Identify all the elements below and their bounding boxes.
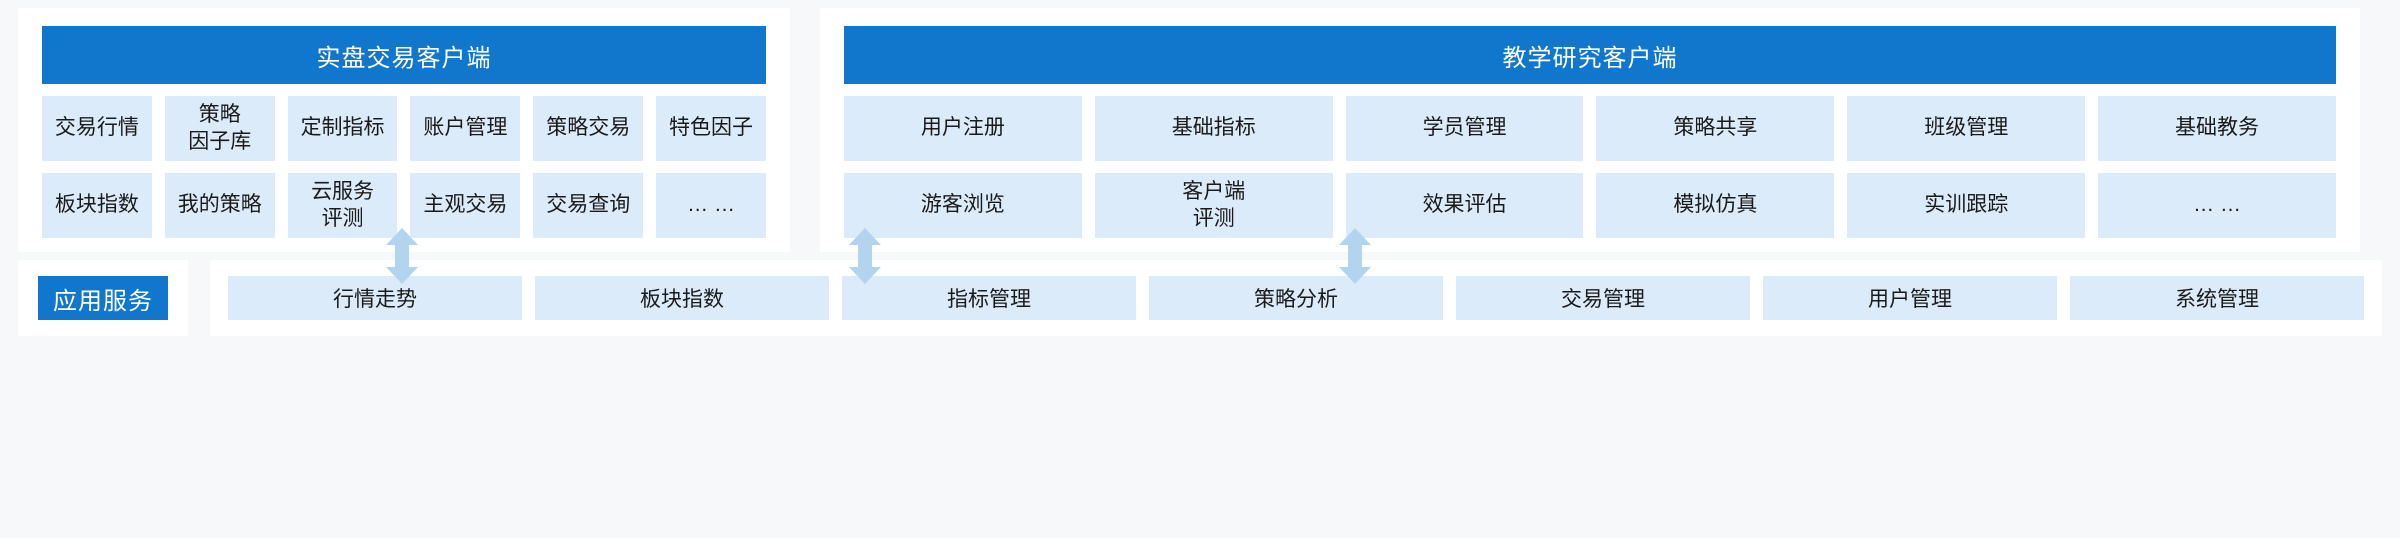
service-tile-hangqingzoushi[interactable]: 行情走势 xyxy=(228,276,522,320)
tile-row: 用户注册 基础指标 学员管理 策略共享 班级管理 基础教务 xyxy=(844,96,2336,161)
tile-row: 交易行情 策略 因子库 定制指标 账户管理 策略交易 特色因子 xyxy=(42,96,766,161)
tile-teaching-jichuzhibiao[interactable]: 基础指标 xyxy=(1095,96,1333,161)
tile-trading-celuejiaoyi[interactable]: 策略交易 xyxy=(533,96,643,161)
application-service-band: 应用服务 行情走势 板块指数 指标管理 策略分析 交易管理 用户管理 系统管理 xyxy=(0,260,2400,530)
panel-trading-client: 实盘交易客户端 交易行情 策略 因子库 定制指标 账户管理 策略交易 特色因子 … xyxy=(18,8,790,252)
client-panels: 实盘交易客户端 交易行情 策略 因子库 定制指标 账户管理 策略交易 特色因子 … xyxy=(0,0,2400,252)
service-band-label: 应用服务 xyxy=(38,276,168,320)
tile-teaching-jichujiaowu[interactable]: 基础教务 xyxy=(2098,96,2336,161)
tile-teaching-kehuduanpingce[interactable]: 客户端 评测 xyxy=(1095,173,1333,238)
tile-trading-yunfuwupingce[interactable]: 云服务 评测 xyxy=(288,173,398,238)
service-tile-celuefenxi[interactable]: 策略分析 xyxy=(1149,276,1443,320)
tile-row: 游客浏览 客户端 评测 效果评估 模拟仿真 实训跟踪 … … xyxy=(844,173,2336,238)
tile-trading-wodecelue[interactable]: 我的策略 xyxy=(165,173,275,238)
tile-trading-zhuguanjiaoyi[interactable]: 主观交易 xyxy=(410,173,520,238)
tile-teaching-banjiguanli[interactable]: 班级管理 xyxy=(1847,96,2085,161)
panel-title-trading-client: 实盘交易客户端 xyxy=(42,26,766,84)
panel-teaching-research-client: 教学研究客户端 用户注册 基础指标 学员管理 策略共享 班级管理 基础教务 游客… xyxy=(820,8,2360,252)
tile-teaching-yonghuzhuce[interactable]: 用户注册 xyxy=(844,96,1082,161)
tile-trading-more[interactable]: … … xyxy=(656,173,766,238)
tile-trading-bankuaizhishu[interactable]: 板块指数 xyxy=(42,173,152,238)
service-tile-xitongguanli[interactable]: 系统管理 xyxy=(2070,276,2364,320)
service-label-card: 应用服务 xyxy=(18,260,188,336)
tile-trading-jiaoyichaxun[interactable]: 交易查询 xyxy=(533,173,643,238)
tile-trading-zhanghuguanli[interactable]: 账户管理 xyxy=(410,96,520,161)
tile-trading-tesiyinzi[interactable]: 特色因子 xyxy=(656,96,766,161)
tile-trading-dingzhizhibiao[interactable]: 定制指标 xyxy=(288,96,398,161)
service-tile-bankuaizhishu[interactable]: 板块指数 xyxy=(535,276,829,320)
tile-teaching-monifangzhen[interactable]: 模拟仿真 xyxy=(1596,173,1834,238)
service-tiles-card: 行情走势 板块指数 指标管理 策略分析 交易管理 用户管理 系统管理 xyxy=(210,260,2382,336)
service-tile-jiaoyiguanli[interactable]: 交易管理 xyxy=(1456,276,1750,320)
tile-teaching-xueyuanguanli[interactable]: 学员管理 xyxy=(1346,96,1584,161)
tile-teaching-youkeliulan[interactable]: 游客浏览 xyxy=(844,173,1082,238)
tile-teaching-more[interactable]: … … xyxy=(2098,173,2336,238)
tile-trading-celueyinzi[interactable]: 策略 因子库 xyxy=(165,96,275,161)
tile-teaching-celuegongxiang[interactable]: 策略共享 xyxy=(1596,96,1834,161)
panel-title-teaching-research-client: 教学研究客户端 xyxy=(844,26,2336,84)
tile-teaching-xiaoguopinggu[interactable]: 效果评估 xyxy=(1346,173,1584,238)
service-tile-yonghuguanli[interactable]: 用户管理 xyxy=(1763,276,2057,320)
tile-teaching-shixungenzong[interactable]: 实训跟踪 xyxy=(1847,173,2085,238)
tile-row: 板块指数 我的策略 云服务 评测 主观交易 交易查询 … … xyxy=(42,173,766,238)
tile-trading-jiaoyihangqing[interactable]: 交易行情 xyxy=(42,96,152,161)
service-tile-zhibiaoguanli[interactable]: 指标管理 xyxy=(842,276,1136,320)
